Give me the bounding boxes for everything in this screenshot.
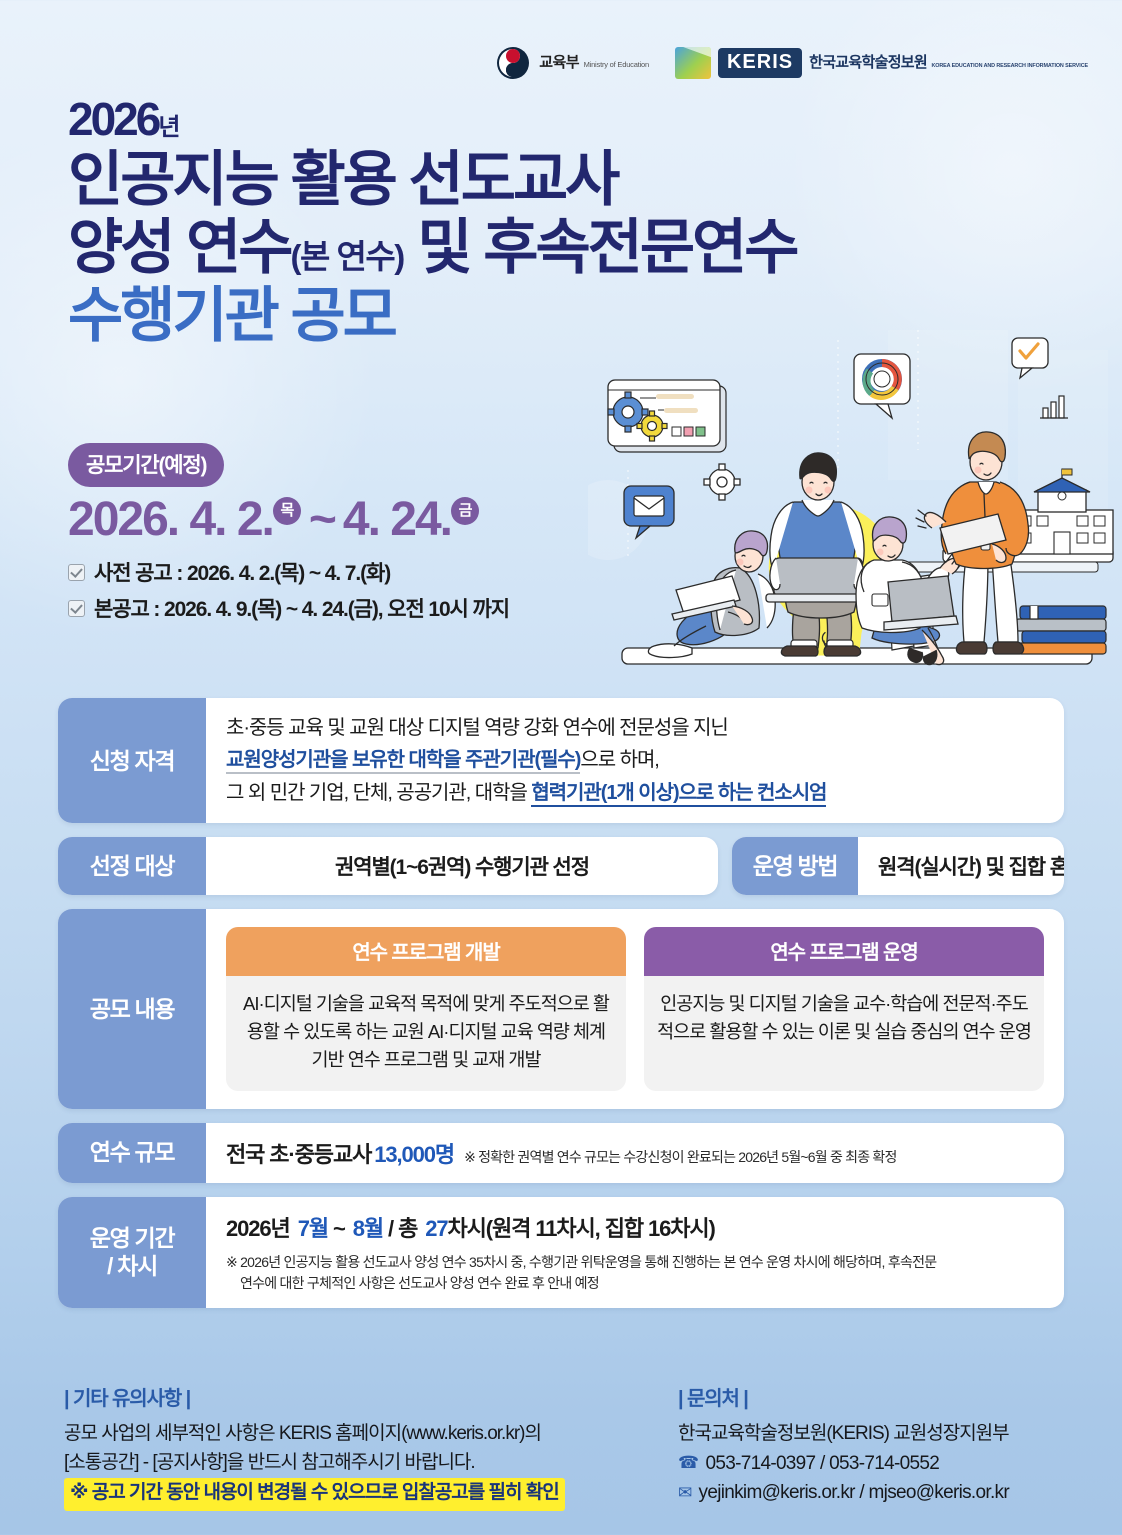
row-content: 공모 내용 연수 프로그램 개발 AI·디지털 기술을 교육적 목적에 맞게 주… xyxy=(58,909,1064,1108)
footer-notice-line-3: ※ 공고 기간 동안 내용이 변경될 수 있으므로 입찰공고를 필히 확인 xyxy=(64,1478,664,1511)
scale-value: 전국 초·중등교사 13,000명※ 정확한 권역별 연수 규모는 수강신청이 … xyxy=(226,1137,1044,1169)
row-duration: 운영 기간 / 차시 2026년 7월 ~ 8월 / 총 27차시(원격 11차… xyxy=(58,1197,1064,1308)
period-check-label: 본공고 : 2026. 4. 9.(목) ~ 4. 24.(금), 오전 10시… xyxy=(94,593,509,623)
footer-notice-line-1: 공모 사업의 세부적인 사항은 KERIS 홈페이지(www.keris.or.… xyxy=(64,1420,664,1449)
duration-note-line2: 연수에 대한 구체적인 사항은 선도교사 양성 연수 완료 후 안내 예정 xyxy=(226,1273,1044,1294)
qualification-line3-highlight: 협력기관(1개 이상)으로 하는 컨소시엄 xyxy=(531,782,826,807)
duration-note-line1: ※ 2026년 인공지능 활용 선도교사 양성 연수 35차시 중, 수행기관 … xyxy=(226,1254,936,1270)
footer: | 기타 유의사항 | 공모 사업의 세부적인 사항은 KERIS 홈페이지(w… xyxy=(64,1382,1064,1511)
list-item: 본공고 : 2026. 4. 9.(목) ~ 4. 24.(금), 오전 10시… xyxy=(68,593,509,623)
qualification-line-1: 초·중등 교육 및 교원 대상 디지털 역량 강화 연수에 전문성을 지닌 xyxy=(226,712,1044,744)
footer-notice-highlight: ※ 공고 기간 동안 내용이 변경될 수 있으므로 입찰공고를 필히 확인 xyxy=(64,1478,565,1511)
row-label-qualification: 신청 자격 xyxy=(58,698,206,823)
title-year-suffix: 년 xyxy=(158,114,179,141)
checkbox-icon xyxy=(68,600,85,617)
content-card-operation-body: 인공지능 및 디지털 기술을 교수·학습에 전문적·주도적으로 활용할 수 있는… xyxy=(644,976,1044,1062)
row-body-method: 원격(실시간) 및 집합 혼합 / 직무연수 xyxy=(858,837,1064,895)
footer-contact-phone: 053-714-0397 / 053-714-0552 xyxy=(705,1449,939,1478)
keris-name-en: KOREA EDUCATION AND RESEARCH INFORMATION… xyxy=(931,63,1088,69)
row-body-duration: 2026년 7월 ~ 8월 / 총 27차시(원격 11차시, 집합 16차시)… xyxy=(206,1197,1064,1308)
footer-contact-phone-row: ☎ 053-714-0397 / 053-714-0552 xyxy=(678,1449,1064,1478)
row-label-duration: 운영 기간 / 차시 xyxy=(58,1197,206,1308)
row-target: 선정 대상 권역별(1~6권역) 수행기관 선정 xyxy=(58,837,718,895)
title-year-number: 2026 xyxy=(68,93,158,145)
title-year: 2026년 xyxy=(68,96,796,142)
footer-contact-head: | 문의처 | xyxy=(678,1382,1064,1411)
ministry-of-education-text: 교육부 Ministry of Education xyxy=(539,54,649,72)
period-badge: 공모기간(예정) xyxy=(68,443,224,487)
period-end-date: 4. 24. xyxy=(343,495,451,545)
duration-c: ~ xyxy=(328,1216,350,1241)
list-item: 사전 공고 : 2026. 4. 2.(목) ~ 4. 7.(화) xyxy=(68,557,509,587)
checkbox-icon xyxy=(68,564,85,581)
keris-badge: KERIS xyxy=(718,48,802,78)
row-body-scale: 전국 초·중등교사 13,000명※ 정확한 권역별 연수 규모는 수강신청이 … xyxy=(206,1123,1064,1183)
row-label-duration-line2: / 차시 xyxy=(107,1253,157,1279)
qualification-line2-tail: 으로 하며, xyxy=(580,749,658,771)
period-tilde: ~ xyxy=(309,495,335,545)
telephone-icon: ☎ xyxy=(678,1450,698,1476)
duration-note: ※ 2026년 인공지능 활용 선도교사 양성 연수 35차시 중, 수행기관 … xyxy=(226,1252,1044,1294)
qualification-line2-highlight: 교원양성기관을 보유한 대학을 주관기관(필수) xyxy=(226,749,580,774)
footer-notice-line-2: [소통공간] - [공지사항]을 반드시 참고해주시기 바랍니다. xyxy=(64,1449,664,1478)
footer-contact-org: 한국교육학술정보원(KERIS) 교원성장지원부 xyxy=(678,1420,1064,1449)
duration-e: / 총 xyxy=(383,1216,422,1241)
header-logos: 교육부 Ministry of Education KERIS 한국교육학술정보… xyxy=(496,46,1088,80)
footer-notice-head: | 기타 유의사항 | xyxy=(64,1382,664,1411)
scale-note: ※ 정확한 권역별 연수 규모는 수강신청이 완료되는 2026년 5월~6월 … xyxy=(464,1147,896,1167)
content-card-development: 연수 프로그램 개발 AI·디지털 기술을 교육적 목적에 맞게 주도적으로 활… xyxy=(226,927,626,1090)
title-line2-b: 및 후속전문연수 xyxy=(417,214,796,281)
poster-title: 2026년 인공지능 활용 선도교사 양성 연수(본 연수) 및 후속전문연수 … xyxy=(68,96,796,346)
row-body-content: 연수 프로그램 개발 AI·디지털 기술을 교육적 목적에 맞게 주도적으로 활… xyxy=(206,909,1064,1108)
moe-name-kr: 교육부 xyxy=(539,54,579,71)
keris-text: 한국교육학술정보원 KOREA EDUCATION AND RESEARCH I… xyxy=(809,54,1088,72)
keris-mark-icon xyxy=(675,47,711,79)
title-line2-a: 양성 연수 xyxy=(68,214,290,281)
title-line-1: 인공지능 활용 선도교사 xyxy=(68,150,796,210)
row-label-scale: 연수 규모 xyxy=(58,1123,206,1183)
application-period-block: 공모기간(예정) 2026. 4. 2.목~4. 24.금 사전 공고 : 20… xyxy=(68,443,509,629)
qualification-line3-head: 그 외 민간 기업, 단체, 공공기관, 대학을 xyxy=(226,782,531,804)
footer-contact-mail-row: ✉ yejinkim@keris.or.kr / mjseo@keris.or.… xyxy=(678,1478,1064,1507)
duration-a: 2026년 xyxy=(226,1216,295,1241)
content-card-development-header: 연수 프로그램 개발 xyxy=(226,927,626,976)
footer-notice: | 기타 유의사항 | 공모 사업의 세부적인 사항은 KERIS 홈페이지(w… xyxy=(64,1382,664,1511)
row-label-duration-line1: 운영 기간 xyxy=(90,1225,175,1251)
period-dates: 2026. 4. 2.목~4. 24.금 xyxy=(68,495,509,545)
footer-contact: | 문의처 | 한국교육학술정보원(KERIS) 교원성장지원부 ☎ 053-7… xyxy=(664,1382,1064,1511)
target-value: 권역별(1~6권역) 수행기관 선정 xyxy=(226,851,698,881)
title-line2-small: (본 연수) xyxy=(290,238,403,275)
period-check-list: 사전 공고 : 2026. 4. 2.(목) ~ 4. 7.(화) 본공고 : … xyxy=(68,557,509,623)
row-body-qualification: 초·중등 교육 및 교원 대상 디지털 역량 강화 연수에 전문성을 지닌 교원… xyxy=(206,698,1064,823)
duration-month-end: 8월 xyxy=(353,1216,383,1241)
qualification-line-2: 교원양성기관을 보유한 대학을 주관기관(필수)으로 하며, xyxy=(226,744,1044,776)
content-card-operation: 연수 프로그램 운영 인공지능 및 디지털 기술을 교수·학습에 전문적·주도적… xyxy=(644,927,1044,1090)
info-rows: 신청 자격 초·중등 교육 및 교원 대상 디지털 역량 강화 연수에 전문성을… xyxy=(58,698,1064,1322)
row-target-and-method: 선정 대상 권역별(1~6권역) 수행기관 선정 운영 방법 원격(실시간) 및… xyxy=(58,837,1064,895)
content-cards: 연수 프로그램 개발 AI·디지털 기술을 교육적 목적에 맞게 주도적으로 활… xyxy=(226,923,1044,1094)
ministry-of-education-logo: 교육부 Ministry of Education xyxy=(496,46,649,80)
row-qualification: 신청 자격 초·중등 교육 및 교원 대상 디지털 역량 강화 연수에 전문성을… xyxy=(58,698,1064,823)
hero-illustration: .ol{fill:none;stroke:#2b2b2b;stroke-widt… xyxy=(588,330,1116,678)
keris-logo: KERIS 한국교육학술정보원 KOREA EDUCATION AND RESE… xyxy=(675,47,1088,79)
footer-contact-mail: yejinkim@keris.or.kr / mjseo@keris.or.kr xyxy=(699,1478,1009,1507)
period-start-day: 목 xyxy=(273,497,301,525)
duration-g: 차시(원격 11차시, 집합 16차시) xyxy=(448,1216,715,1241)
scale-number: 13,000명 xyxy=(374,1137,454,1169)
row-label-target: 선정 대상 xyxy=(58,837,206,895)
content-card-operation-header: 연수 프로그램 운영 xyxy=(644,927,1044,976)
keris-name-kr: 한국교육학술정보원 xyxy=(809,54,927,71)
qualification-line-3: 그 외 민간 기업, 단체, 공공기관, 대학을 협력기관(1개 이상)으로 하… xyxy=(226,777,1044,809)
row-body-target: 권역별(1~6권역) 수행기관 선정 xyxy=(206,837,718,895)
row-scale: 연수 규모 전국 초·중등교사 13,000명※ 정확한 권역별 연수 규모는 … xyxy=(58,1123,1064,1183)
duration-main: 2026년 7월 ~ 8월 / 총 27차시(원격 11차시, 집합 16차시) xyxy=(226,1211,1044,1243)
scale-head: 전국 초·중등교사 xyxy=(226,1137,371,1169)
title-line-2: 양성 연수(본 연수) 및 후속전문연수 xyxy=(68,218,796,278)
row-method: 운영 방법 원격(실시간) 및 집합 혼합 / 직무연수 xyxy=(732,837,1064,895)
row-label-content: 공모 내용 xyxy=(58,909,206,1108)
row-label-method: 운영 방법 xyxy=(732,837,858,895)
duration-month-start: 7월 xyxy=(298,1216,328,1241)
period-end-day: 금 xyxy=(451,497,479,525)
period-start-date: 2026. 4. 2. xyxy=(68,495,273,545)
content-card-development-body: AI·디지털 기술을 교육적 목적에 맞게 주도적으로 활용할 수 있도록 하는… xyxy=(226,976,626,1090)
period-check-label: 사전 공고 : 2026. 4. 2.(목) ~ 4. 7.(화) xyxy=(94,557,390,587)
envelope-icon: ✉ xyxy=(678,1480,692,1506)
duration-sessions: 27 xyxy=(425,1216,447,1241)
method-value: 원격(실시간) 및 집합 혼합 / 직무연수 xyxy=(878,851,1064,881)
moe-name-en: Ministry of Education xyxy=(584,60,649,69)
taegeuk-icon xyxy=(496,46,530,80)
